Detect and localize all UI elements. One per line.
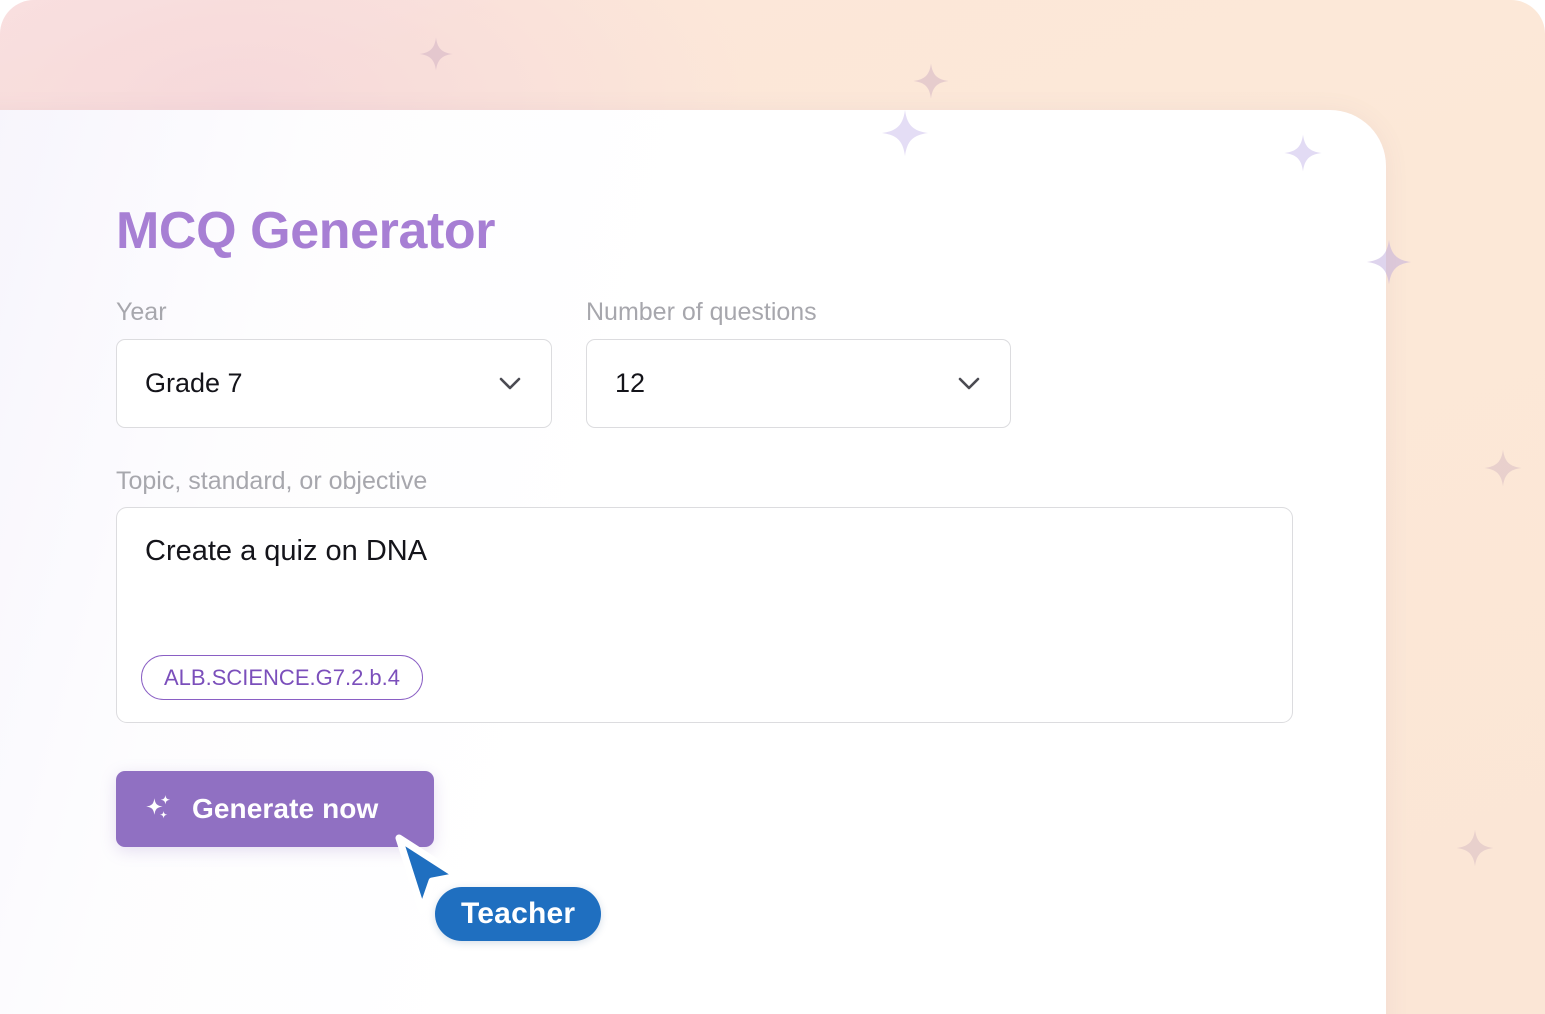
field-year: Year Grade 7	[116, 299, 552, 428]
field-topic-label: Topic, standard, or objective	[116, 468, 1296, 496]
page-title: MCQ Generator	[116, 205, 1296, 257]
generate-now-button[interactable]: Generate now	[116, 771, 434, 847]
number-of-questions-select[interactable]: 12	[586, 339, 1011, 428]
chevron-down-icon	[493, 366, 527, 400]
app-root: MCQ Generator Year Grade 7 Nu	[0, 0, 1545, 1014]
sparkle-2-icon	[912, 62, 950, 100]
generator-card: MCQ Generator Year Grade 7 Nu	[0, 110, 1386, 1014]
sparkle-1-icon	[418, 36, 454, 72]
standard-chip[interactable]: ALB.SCIENCE.G7.2.b.4	[141, 655, 423, 700]
sparkles-icon	[142, 792, 176, 826]
number-of-questions-value: 12	[615, 368, 952, 399]
topic-input-value: Create a quiz on DNA	[145, 534, 1264, 569]
field-topic: Topic, standard, or objective Create a q…	[116, 468, 1296, 724]
field-number-of-questions: Number of questions 12	[586, 299, 1011, 428]
sparkle-6-icon	[1483, 448, 1523, 488]
field-year-label: Year	[116, 299, 552, 327]
sparkle-7-icon	[1455, 828, 1495, 868]
year-select-value: Grade 7	[145, 368, 493, 399]
year-select[interactable]: Grade 7	[116, 339, 552, 428]
chevron-down-icon	[952, 366, 986, 400]
generate-now-label: Generate now	[192, 793, 378, 825]
field-number-of-questions-label: Number of questions	[586, 299, 1011, 327]
topic-input[interactable]: Create a quiz on DNA ALB.SCIENCE.G7.2.b.…	[116, 507, 1293, 723]
card-content: MCQ Generator Year Grade 7 Nu	[116, 205, 1296, 847]
select-fields-row: Year Grade 7 Number of questions 12	[116, 299, 1296, 428]
